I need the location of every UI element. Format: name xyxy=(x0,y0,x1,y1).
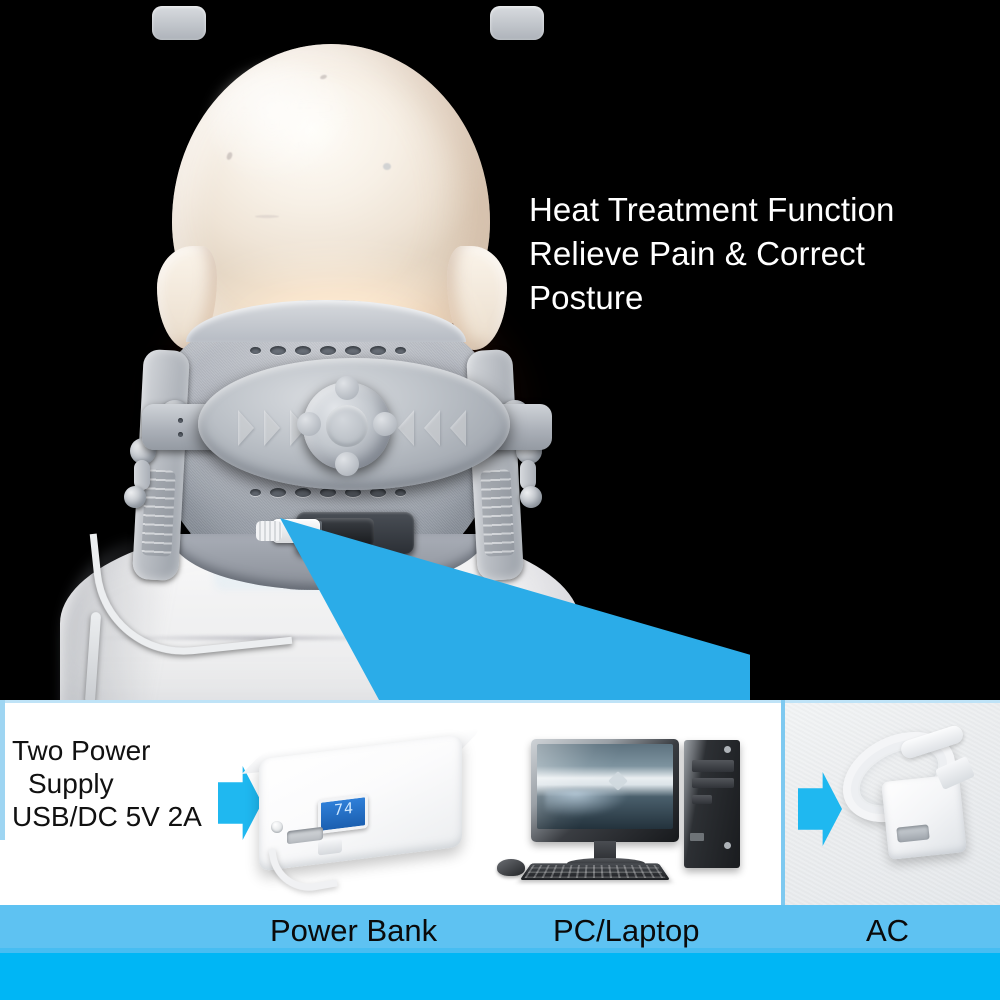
mouse xyxy=(497,859,525,876)
dial-lobe xyxy=(373,412,397,436)
chevron-icon xyxy=(424,410,440,446)
vent-row-bottom xyxy=(250,488,406,497)
strap-hole xyxy=(178,418,183,423)
hero-headline: Heat Treatment Function Relieve Pain & C… xyxy=(529,188,999,321)
vent-hole xyxy=(395,347,406,354)
vent-row-top xyxy=(250,346,406,355)
vent-hole xyxy=(320,346,336,355)
supply-label: Two Power Supply USB/DC 5V 2A xyxy=(12,734,242,833)
ac-adapter-brick xyxy=(881,774,967,860)
strap-hole xyxy=(178,432,183,437)
tower-badge xyxy=(690,833,704,841)
keyboard xyxy=(520,863,670,880)
vent-hole xyxy=(270,488,286,497)
chevron-icon xyxy=(238,410,254,446)
dial-lobe xyxy=(335,452,359,476)
monitor-wallpaper-wave xyxy=(545,790,667,820)
vent-hole xyxy=(270,346,286,355)
head-highlight xyxy=(212,66,362,186)
tower-drive-bay xyxy=(692,778,734,788)
caption-pc-laptop: PC/Laptop xyxy=(553,913,700,949)
tower-port xyxy=(692,795,712,804)
caption-band: Power Bank PC/Laptop AC xyxy=(0,905,1000,953)
chevron-icon xyxy=(264,410,280,446)
supply-label-line-3: USB/DC 5V 2A xyxy=(12,800,242,833)
hero-photo: Heat Treatment Function Relieve Pain & C… xyxy=(0,0,1000,700)
tension-dial[interactable] xyxy=(303,382,391,470)
strap-tab-left[interactable] xyxy=(152,6,206,40)
chevron-icon xyxy=(398,410,414,446)
dial-lobe xyxy=(297,412,321,436)
tower-drive-bay xyxy=(692,760,734,772)
skin-speck xyxy=(383,163,391,170)
headline-line-1: Heat Treatment Function xyxy=(529,188,999,232)
strap-tab-right[interactable] xyxy=(490,6,544,40)
caption-ac: AC xyxy=(866,913,909,949)
panel-vertical-divider xyxy=(781,700,785,905)
panel-top-border xyxy=(0,700,1000,703)
vent-hole xyxy=(370,346,386,355)
headline-line-3: Posture xyxy=(529,276,999,320)
adjust-knob[interactable] xyxy=(124,486,146,508)
product-image-canvas: Heat Treatment Function Relieve Pain & C… xyxy=(0,0,1000,1000)
vent-hole xyxy=(295,346,311,355)
rail-ridges xyxy=(480,469,514,556)
tower-power-led-icon xyxy=(724,746,731,753)
bottom-color-band xyxy=(0,953,1000,1000)
vent-hole xyxy=(345,346,361,355)
vent-hole xyxy=(250,347,261,354)
power-bank-button[interactable] xyxy=(271,821,283,833)
headline-line-2: Relieve Pain & Correct xyxy=(529,232,999,276)
supply-label-line-1: Two Power xyxy=(12,734,242,767)
vent-hole xyxy=(295,488,311,497)
vent-hole xyxy=(395,489,406,496)
panel-left-border xyxy=(0,700,5,840)
caption-power-bank: Power Bank xyxy=(270,913,437,949)
dial-lobe xyxy=(335,376,359,400)
adjust-knob[interactable] xyxy=(520,486,542,508)
supply-label-line-2: Supply xyxy=(12,767,242,800)
chevron-icon xyxy=(450,410,466,446)
vent-hole xyxy=(250,489,261,496)
tower-logo-icon xyxy=(724,842,731,849)
